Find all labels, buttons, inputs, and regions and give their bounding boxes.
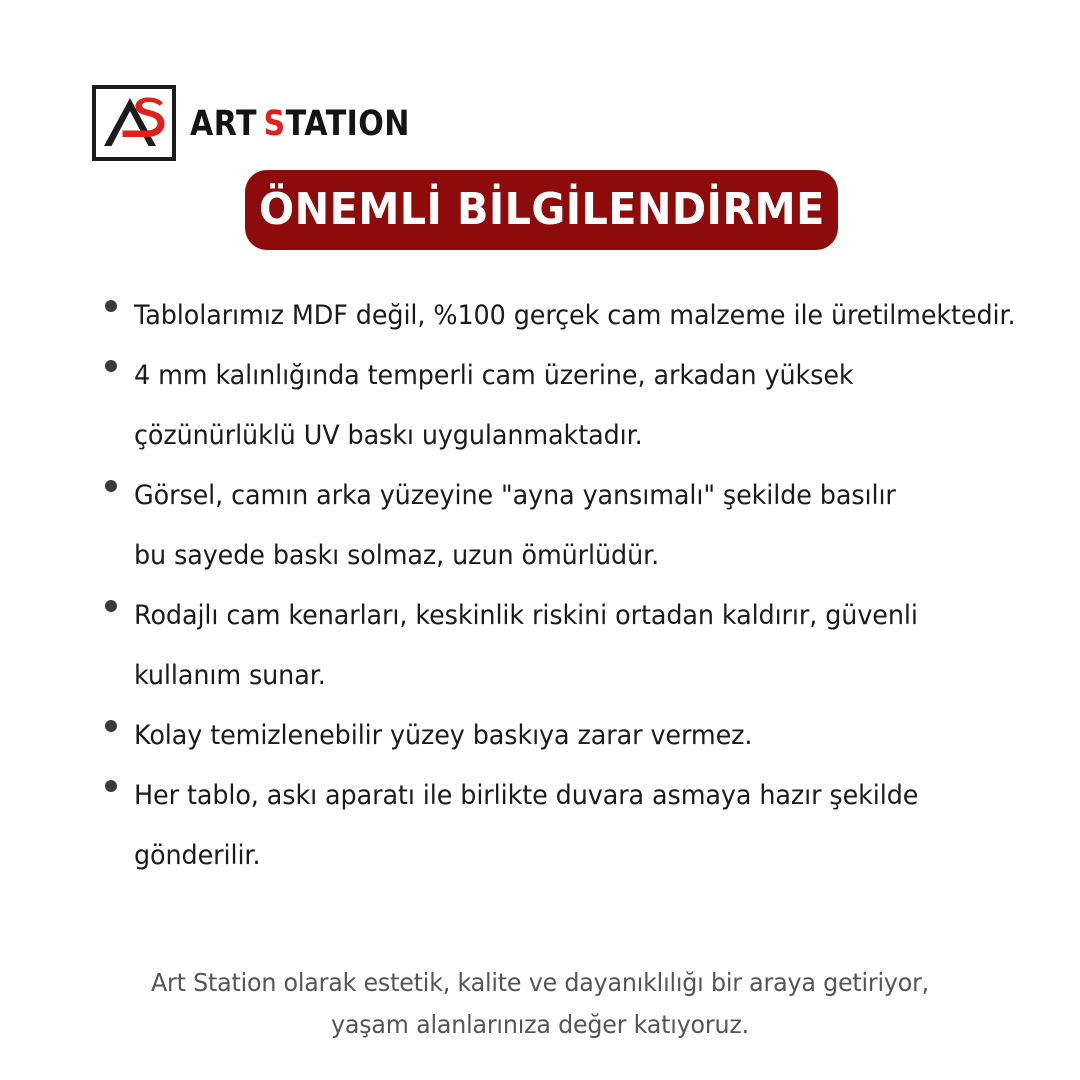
list-item: Görsel, camın arka yüzeyine "ayna yansım… bbox=[100, 466, 1040, 586]
list-item-line: Görsel, camın arka yüzeyine "ayna yansım… bbox=[134, 466, 1004, 526]
brand-name-tation: TATION bbox=[286, 104, 410, 144]
title-banner-text: ÖNEMLİ BİLGİLENDİRME bbox=[259, 188, 825, 232]
bullet-dot-icon bbox=[105, 480, 117, 492]
list-item: Tablolarımız MDF değil, %100 gerçek cam … bbox=[100, 286, 1040, 346]
brand-wordmark: ARTSTATION bbox=[190, 107, 410, 142]
as-monogram-logo-icon bbox=[92, 85, 176, 161]
list-item: Rodajlı cam kenarları, keskinlik riskini… bbox=[100, 586, 1040, 706]
footer-note: Art Station olarak estetik, kalite ve da… bbox=[0, 962, 1080, 1046]
list-item-line: Tablolarımız MDF değil, %100 gerçek cam … bbox=[134, 286, 1004, 346]
list-item: Her tablo, askı aparatı ile birlikte duv… bbox=[100, 766, 1040, 886]
brand-header: ARTSTATION bbox=[92, 84, 446, 162]
list-item-line: Kolay temizlenebilir yüzey baskıya zarar… bbox=[134, 706, 1004, 766]
list-item-line: 4 mm kalınlığında temperli cam üzerine, … bbox=[134, 346, 1004, 406]
list-item-line: Rodajlı cam kenarları, keskinlik riskini… bbox=[134, 586, 1004, 646]
title-banner: ÖNEMLİ BİLGİLENDİRME bbox=[245, 170, 838, 250]
bullet-dot-icon bbox=[105, 720, 117, 732]
list-item-line: Her tablo, askı aparatı ile birlikte duv… bbox=[134, 766, 1004, 826]
list-item-line: bu sayede baskı solmaz, uzun ömürlüdür. bbox=[134, 526, 1004, 586]
info-bullet-list: Tablolarımız MDF değil, %100 gerçek cam … bbox=[100, 286, 1040, 886]
list-item: Kolay temizlenebilir yüzey baskıya zarar… bbox=[100, 706, 1040, 766]
bullet-dot-icon bbox=[105, 360, 117, 372]
footer-line-1: Art Station olarak estetik, kalite ve da… bbox=[27, 962, 1053, 1004]
brand-name-s-accent: S bbox=[264, 104, 286, 144]
list-item: 4 mm kalınlığında temperli cam üzerine, … bbox=[100, 346, 1040, 466]
bullet-dot-icon bbox=[105, 600, 117, 612]
bullet-dot-icon bbox=[105, 780, 117, 792]
list-item-line: gönderilir. bbox=[134, 826, 1004, 886]
list-item-line: çözünürlüklü UV baskı uygulanmaktadır. bbox=[134, 406, 1004, 466]
info-card-page: ARTSTATION ÖNEMLİ BİLGİLENDİRME Tablolar… bbox=[0, 0, 1080, 1080]
brand-name-art: ART bbox=[190, 104, 257, 144]
bullet-dot-icon bbox=[105, 300, 117, 312]
footer-line-2: yaşam alanlarınıza değer katıyoruz. bbox=[27, 1004, 1053, 1046]
list-item-line: kullanım sunar. bbox=[134, 646, 1004, 706]
